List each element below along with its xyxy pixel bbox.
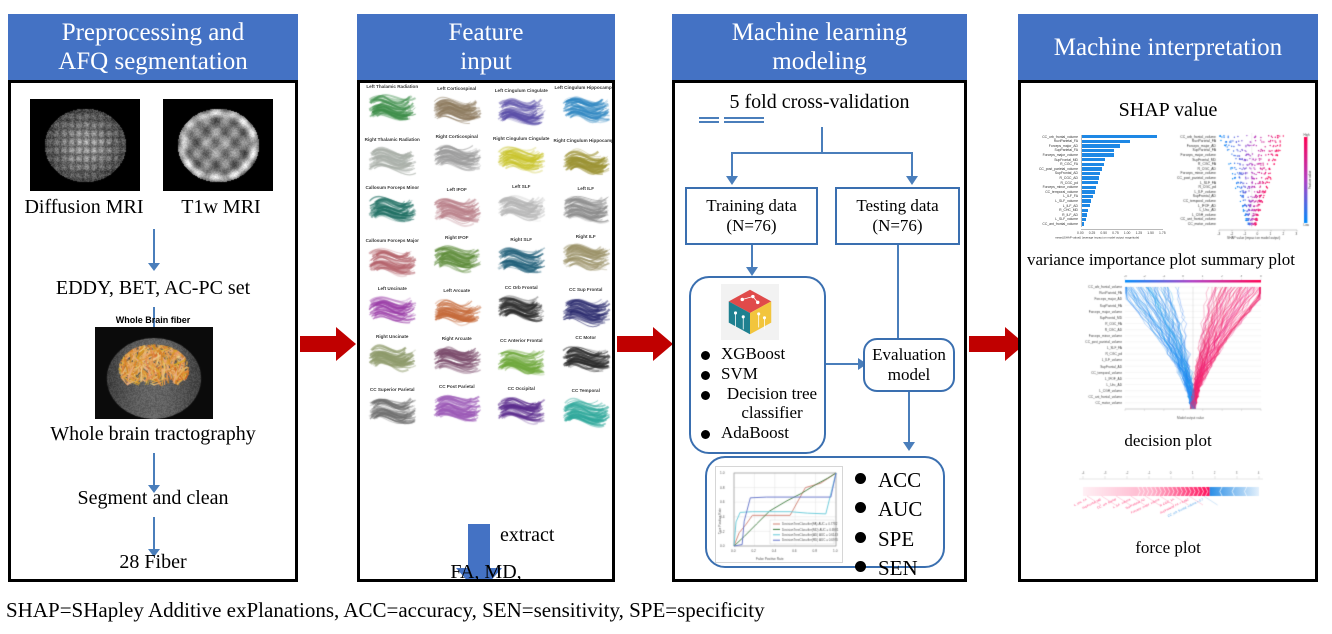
feature-label: L_ILF_FA [1029, 194, 1078, 198]
train-to-models-line [751, 245, 753, 269]
decision-plot-label: decision plot [1124, 431, 1211, 451]
tract-render [364, 341, 420, 375]
tract-item: CC Orb Frontal [489, 286, 554, 331]
tract-item: Left Cingulum Hippocampus [554, 86, 616, 131]
tract-item: Left Corticospinal [425, 87, 490, 132]
tract-item: CC Occipital [489, 387, 554, 432]
tract-render [558, 294, 614, 328]
tract-label: CC Sup Frontal [554, 288, 616, 293]
bullet-icon [701, 391, 710, 400]
figure-caption: SHAP=SHapley Additive exPlanations, ACC=… [6, 598, 765, 623]
eval-to-metrics-line [908, 392, 910, 444]
cv-underline-a [699, 117, 719, 119]
tract-item: Right Cingulum Hippocampus [554, 139, 616, 184]
importance-bar [1081, 153, 1114, 156]
figure-root: Preprocessing and AFQ segmentation Diffu… [0, 0, 1332, 634]
bullet-icon [855, 502, 866, 513]
tract-item: Callosum Forceps Major [360, 239, 425, 284]
decision-plot [1073, 275, 1269, 427]
tract-render [558, 145, 614, 179]
importance-bar [1081, 172, 1100, 175]
tract-label: Right Cingulum Cingulate [489, 137, 554, 142]
importance-bar [1081, 140, 1130, 143]
feature-label: R_CGC_pd [1029, 181, 1078, 185]
importance-bar [1081, 135, 1157, 138]
training-data-line1: Training data [706, 196, 797, 216]
feature-label: L_ILF_AD [1029, 204, 1078, 208]
model-label: XGBoost [721, 344, 785, 363]
importance-bar [1081, 149, 1114, 152]
eddy-bet-acpc-label: EDDY, BET, AC-PC set [56, 277, 250, 300]
tract-label: CC Temporal [554, 389, 616, 394]
testing-data-line1: Testing data [856, 196, 938, 216]
metric-item: ACC [855, 466, 945, 494]
tract-label: Left IFOF [425, 188, 490, 193]
feature-label: RuviParietal_FA [1029, 139, 1078, 143]
panel-ml-title-line1: Machine learning [732, 18, 908, 47]
metric-label: AUC [878, 495, 922, 523]
tract-render [364, 91, 420, 125]
metrics-box: ACCAUCSPESEN [705, 456, 945, 568]
feature-label: SupFrontal_AD [1029, 171, 1078, 175]
importance-bar [1081, 176, 1099, 179]
x-tick-label: 1.50 [1147, 231, 1154, 235]
cv-branch-right-head [906, 176, 918, 185]
x-tick-label: 1.75 [1159, 231, 1166, 235]
metric-label: ACC [878, 466, 921, 494]
metric-label: SEN [878, 554, 918, 582]
tract-render [493, 191, 549, 225]
testing-data-line2: (N=76) [872, 216, 922, 236]
tract-item: CC Sup Frontal [554, 288, 616, 333]
tract-label: Left SLF [489, 185, 554, 190]
tract-render [493, 143, 549, 177]
t1w-mri-label: T1w MRI [161, 196, 281, 219]
panel-interpretation-body: SHAP value CC_orb_frontal_volumeRuviPari… [1018, 80, 1318, 582]
model-item: Decision tree classifier [701, 384, 823, 422]
tract-render [429, 391, 485, 425]
feature-label: L_SLF_volume [1029, 217, 1078, 221]
importance-bar [1081, 163, 1104, 166]
tract-render [558, 241, 614, 275]
importance-bar [1081, 186, 1096, 189]
tract-item: CC Post Parietal [425, 385, 490, 430]
tract-label: CC Anterior Frontal [489, 339, 554, 344]
summary-plot-label: summary plot [1201, 250, 1295, 270]
model-label: AdaBoost [721, 423, 789, 442]
tract-render [493, 95, 549, 129]
tract-label: Callosum Forceps Minor [360, 186, 425, 191]
feature-label: Forceps_minor_volume [1029, 185, 1078, 189]
tract-label: CC Motor [554, 336, 616, 341]
x-tick-label: 1.25 [1136, 231, 1143, 235]
model-item: XGBoost [701, 344, 823, 363]
variance-importance-plot-label: variance importance plot [1027, 250, 1196, 270]
tract-label: Right SLF [489, 238, 554, 243]
cv-stem [821, 127, 823, 153]
tract-label: CC Orb Frontal [489, 286, 554, 291]
t1w-mri-image [163, 99, 273, 191]
tract-label: Left Cingulum Cingulate [489, 89, 554, 94]
training-data-box: Training data (N=76) [685, 187, 818, 245]
tract-item: Right ILF [554, 235, 616, 280]
diffusion-mri-label: Diffusion MRI [19, 196, 149, 219]
panel-feature-title-line1: Feature [449, 18, 524, 47]
cv-branch-left [731, 152, 733, 178]
bullet-icon [855, 561, 866, 572]
test-to-eval-line [897, 245, 899, 341]
panel-ml-body: 5 fold cross-validation Training data (N… [672, 80, 967, 582]
x-tick-label: 0.00 [1077, 231, 1084, 235]
shap-value-heading: SHAP value [1119, 99, 1218, 122]
segment-and-clean-label: Segment and clean [77, 487, 228, 510]
tract-item: CC Anterior Frontal [489, 339, 554, 384]
tractography-image [95, 327, 213, 419]
feature-label: Forceps_major_volume [1029, 153, 1078, 157]
importance-bar [1081, 158, 1105, 161]
importance-bar [1081, 181, 1098, 184]
metric-item: SEN [855, 554, 945, 582]
tract-item: Left Arcuate [425, 289, 490, 334]
tract-render [429, 194, 485, 228]
tract-item: Left IFOF [425, 188, 490, 233]
feature-label: SupFrontal_MD [1029, 158, 1078, 162]
cv-underline-c [724, 117, 764, 119]
tract-render [558, 92, 614, 126]
panel-preprocessing-title-line1: Preprocessing and [62, 18, 245, 47]
tract-item: Right IFOF [425, 236, 490, 281]
panel-preprocessing-title-line2: AFQ segmentation [58, 47, 248, 76]
feature-label: L_SLF_volume [1029, 199, 1078, 203]
cross-validation-label: 5 fold cross-validation [730, 91, 910, 114]
tract-item: Right Thalamic Radiation [360, 138, 425, 183]
models-box: XGBoostSVMDecision tree classifierAdaBoo… [689, 276, 826, 454]
feature-label: CC_temporal_volume [1029, 190, 1078, 194]
panel-feature-input: Feature input Left Thalamic RadiationLef… [357, 14, 615, 582]
importance-bar [1081, 199, 1091, 202]
importance-bar [1081, 144, 1120, 147]
x-axis [1081, 229, 1163, 230]
tract-label: Right Arcuate [425, 337, 490, 342]
tract-render [429, 93, 485, 127]
tract-item: Right Corticospinal [425, 135, 490, 180]
tract-item: CC Motor [554, 336, 616, 381]
feature-label: R_ILF_AD [1029, 213, 1078, 217]
evaluation-line1: Evaluation [872, 345, 946, 365]
tract-render [429, 242, 485, 276]
cv-underline-b [699, 121, 719, 123]
model-item: AdaBoost [701, 423, 823, 442]
tract-gallery: Left Thalamic RadiationLeft Corticospina… [360, 83, 612, 579]
x-tick-label: 0.25 [1089, 231, 1096, 235]
panel-ml-title-line2: modeling [772, 47, 866, 76]
feature-label: R_CHC_MD [1029, 208, 1078, 212]
panel-ml-modeling: Machine learning modeling 5 fold cross-v… [672, 14, 967, 582]
tract-label: CC Post Parietal [425, 385, 490, 390]
variance-importance-plot: CC_orb_frontal_volumeRuviParietal_FAForc… [1029, 129, 1169, 247]
feature-label: R_CGC_AD [1029, 176, 1078, 180]
feature-label: CC_ant_frontal_volume [1029, 222, 1078, 226]
eval-to-metrics-head [903, 442, 915, 451]
y-axis [1081, 135, 1082, 227]
tract-label: Callosum Forceps Major [360, 239, 425, 244]
bullet-icon [701, 351, 710, 360]
bullet-icon [855, 532, 866, 543]
feature-label: SupParietal_FA [1029, 148, 1078, 152]
tract-render [364, 394, 420, 428]
fiber-count-label: 28 Fiber [119, 551, 186, 574]
panel-interpretation: Machine interpretation SHAP value CC_orb… [1018, 14, 1318, 582]
importance-bar [1081, 204, 1090, 207]
tract-label: Right IFOF [425, 236, 490, 241]
importance-bar [1081, 190, 1095, 193]
arrow-to-eddy [148, 229, 160, 271]
tract-render [364, 144, 420, 178]
tract-item: Right Arcuate [425, 337, 490, 382]
panel-ml-header: Machine learning modeling [672, 14, 967, 80]
panel-interpretation-header: Machine interpretation [1018, 14, 1318, 80]
ml-cube-icon [721, 284, 779, 340]
tract-render [493, 244, 549, 278]
tract-render [364, 192, 420, 226]
panel-preprocessing-body: Diffusion MRI T1w MRI EDDY, BET, AC-PC s… [8, 80, 298, 582]
tract-item: Left Uncinate [360, 287, 425, 332]
train-to-models-head [746, 267, 758, 276]
model-label: Decision tree classifier [721, 384, 823, 422]
tract-label: Left Cingulum Hippocampus [554, 86, 616, 91]
tract-label: Right ILF [554, 235, 616, 240]
tract-item: Callosum Forceps Minor [360, 186, 425, 231]
tract-render [429, 141, 485, 175]
tract-item: Right Uncinate [360, 335, 425, 380]
x-tick-label: 1.00 [1124, 231, 1131, 235]
importance-bar [1081, 209, 1088, 212]
feature-label: R_CGC_FA [1029, 162, 1078, 166]
metric-list: ACCAUCSPESEN [855, 466, 945, 582]
tract-item: Left SLF [489, 185, 554, 230]
tract-render [493, 393, 549, 427]
tract-render [558, 395, 614, 429]
evaluation-model-box: Evaluation model [863, 338, 955, 392]
tract-render [429, 295, 485, 329]
tract-item: Left Cingulum Cingulate [489, 89, 554, 134]
cv-branch-right [911, 152, 913, 178]
tract-item: CC Temporal [554, 389, 616, 434]
metric-item: AUC [855, 495, 945, 523]
tract-item: Right SLF [489, 238, 554, 283]
tract-label: Right Cingulum Hippocampus [554, 139, 616, 144]
bullet-icon [855, 473, 866, 484]
red-arrow-1 [300, 327, 356, 361]
whole-brain-fiber-title: Whole Brain fiber [11, 315, 295, 325]
model-item: SVM [701, 364, 823, 383]
metric-label: SPE [878, 525, 914, 553]
tract-label: Left Thalamic Radiation [360, 85, 425, 90]
testing-data-box: Testing data (N=76) [835, 187, 960, 245]
model-list: XGBoostSVMDecision tree classifierAdaBoo… [701, 344, 823, 443]
cv-branch-left-head [726, 176, 738, 185]
importance-bar [1081, 167, 1102, 170]
tract-item: Left ILF [554, 187, 616, 232]
x-tick-label: 0.75 [1112, 231, 1119, 235]
panel-feature-input-body: Left Thalamic RadiationLeft Corticospina… [357, 80, 615, 582]
tract-item: Right Cingulum Cingulate [489, 137, 554, 182]
diffusion-mri-image [30, 99, 140, 191]
tract-render [558, 342, 614, 376]
importance-bar [1081, 195, 1093, 198]
tract-render [558, 193, 614, 227]
tract-label: Right Thalamic Radiation [360, 138, 425, 143]
tract-item: Left Thalamic Radiation [360, 85, 425, 130]
extract-label: extract [500, 524, 554, 547]
bullet-icon [701, 430, 710, 439]
tract-label: Right Corticospinal [425, 135, 490, 140]
cv-crossbar [731, 152, 913, 154]
tract-render [429, 343, 485, 377]
roc-curve-plot [715, 466, 843, 563]
whole-brain-tractography-label: Whole brain tractography [50, 423, 255, 446]
tract-label: CC Occipital [489, 387, 554, 392]
models-to-eval-line [826, 363, 860, 365]
features-line1: FA, MD, [450, 561, 521, 582]
panel-preprocessing-header: Preprocessing and AFQ segmentation [8, 14, 298, 80]
tract-label: Left Arcuate [425, 289, 490, 294]
tract-label: Left Corticospinal [425, 87, 490, 92]
tract-label: Left Uncinate [360, 287, 425, 292]
force-plot [1069, 465, 1273, 543]
training-data-line2: (N=76) [726, 216, 776, 236]
model-label: SVM [721, 364, 758, 383]
tract-render [364, 293, 420, 327]
red-arrow-2 [617, 327, 673, 361]
bullet-icon [701, 371, 710, 380]
summary-plot [1173, 129, 1313, 247]
panel-preprocessing: Preprocessing and AFQ segmentation Diffu… [8, 14, 298, 582]
feature-label: Forceps_major_AD [1029, 144, 1078, 148]
red-arrow-3 [969, 327, 1025, 361]
tract-label: CC Superior Parietal [360, 388, 425, 393]
importance-bar [1081, 213, 1087, 216]
cv-underline-d [724, 121, 764, 123]
feature-label: CC_orb_frontal_volume [1029, 135, 1078, 139]
tract-label: Right Uncinate [360, 335, 425, 340]
metric-item: SPE [855, 525, 945, 553]
panel-feature-input-header: Feature input [357, 14, 615, 80]
panel-feature-title-line2: input [460, 47, 511, 76]
feature-label: CC_post_parietal_volume [1029, 167, 1078, 171]
tract-item: CC Superior Parietal [360, 388, 425, 433]
x-axis-label: mean(|SHAP value|) (average impact on mo… [1055, 236, 1139, 239]
panel-interpretation-title: Machine interpretation [1054, 33, 1282, 62]
tract-render [364, 245, 420, 279]
evaluation-line2: model [888, 365, 931, 385]
force-plot-label: force plot [1135, 538, 1201, 558]
x-tick-label: 0.50 [1100, 231, 1107, 235]
tract-render [493, 292, 549, 326]
tract-render [493, 345, 549, 379]
tract-label: Left ILF [554, 187, 616, 192]
